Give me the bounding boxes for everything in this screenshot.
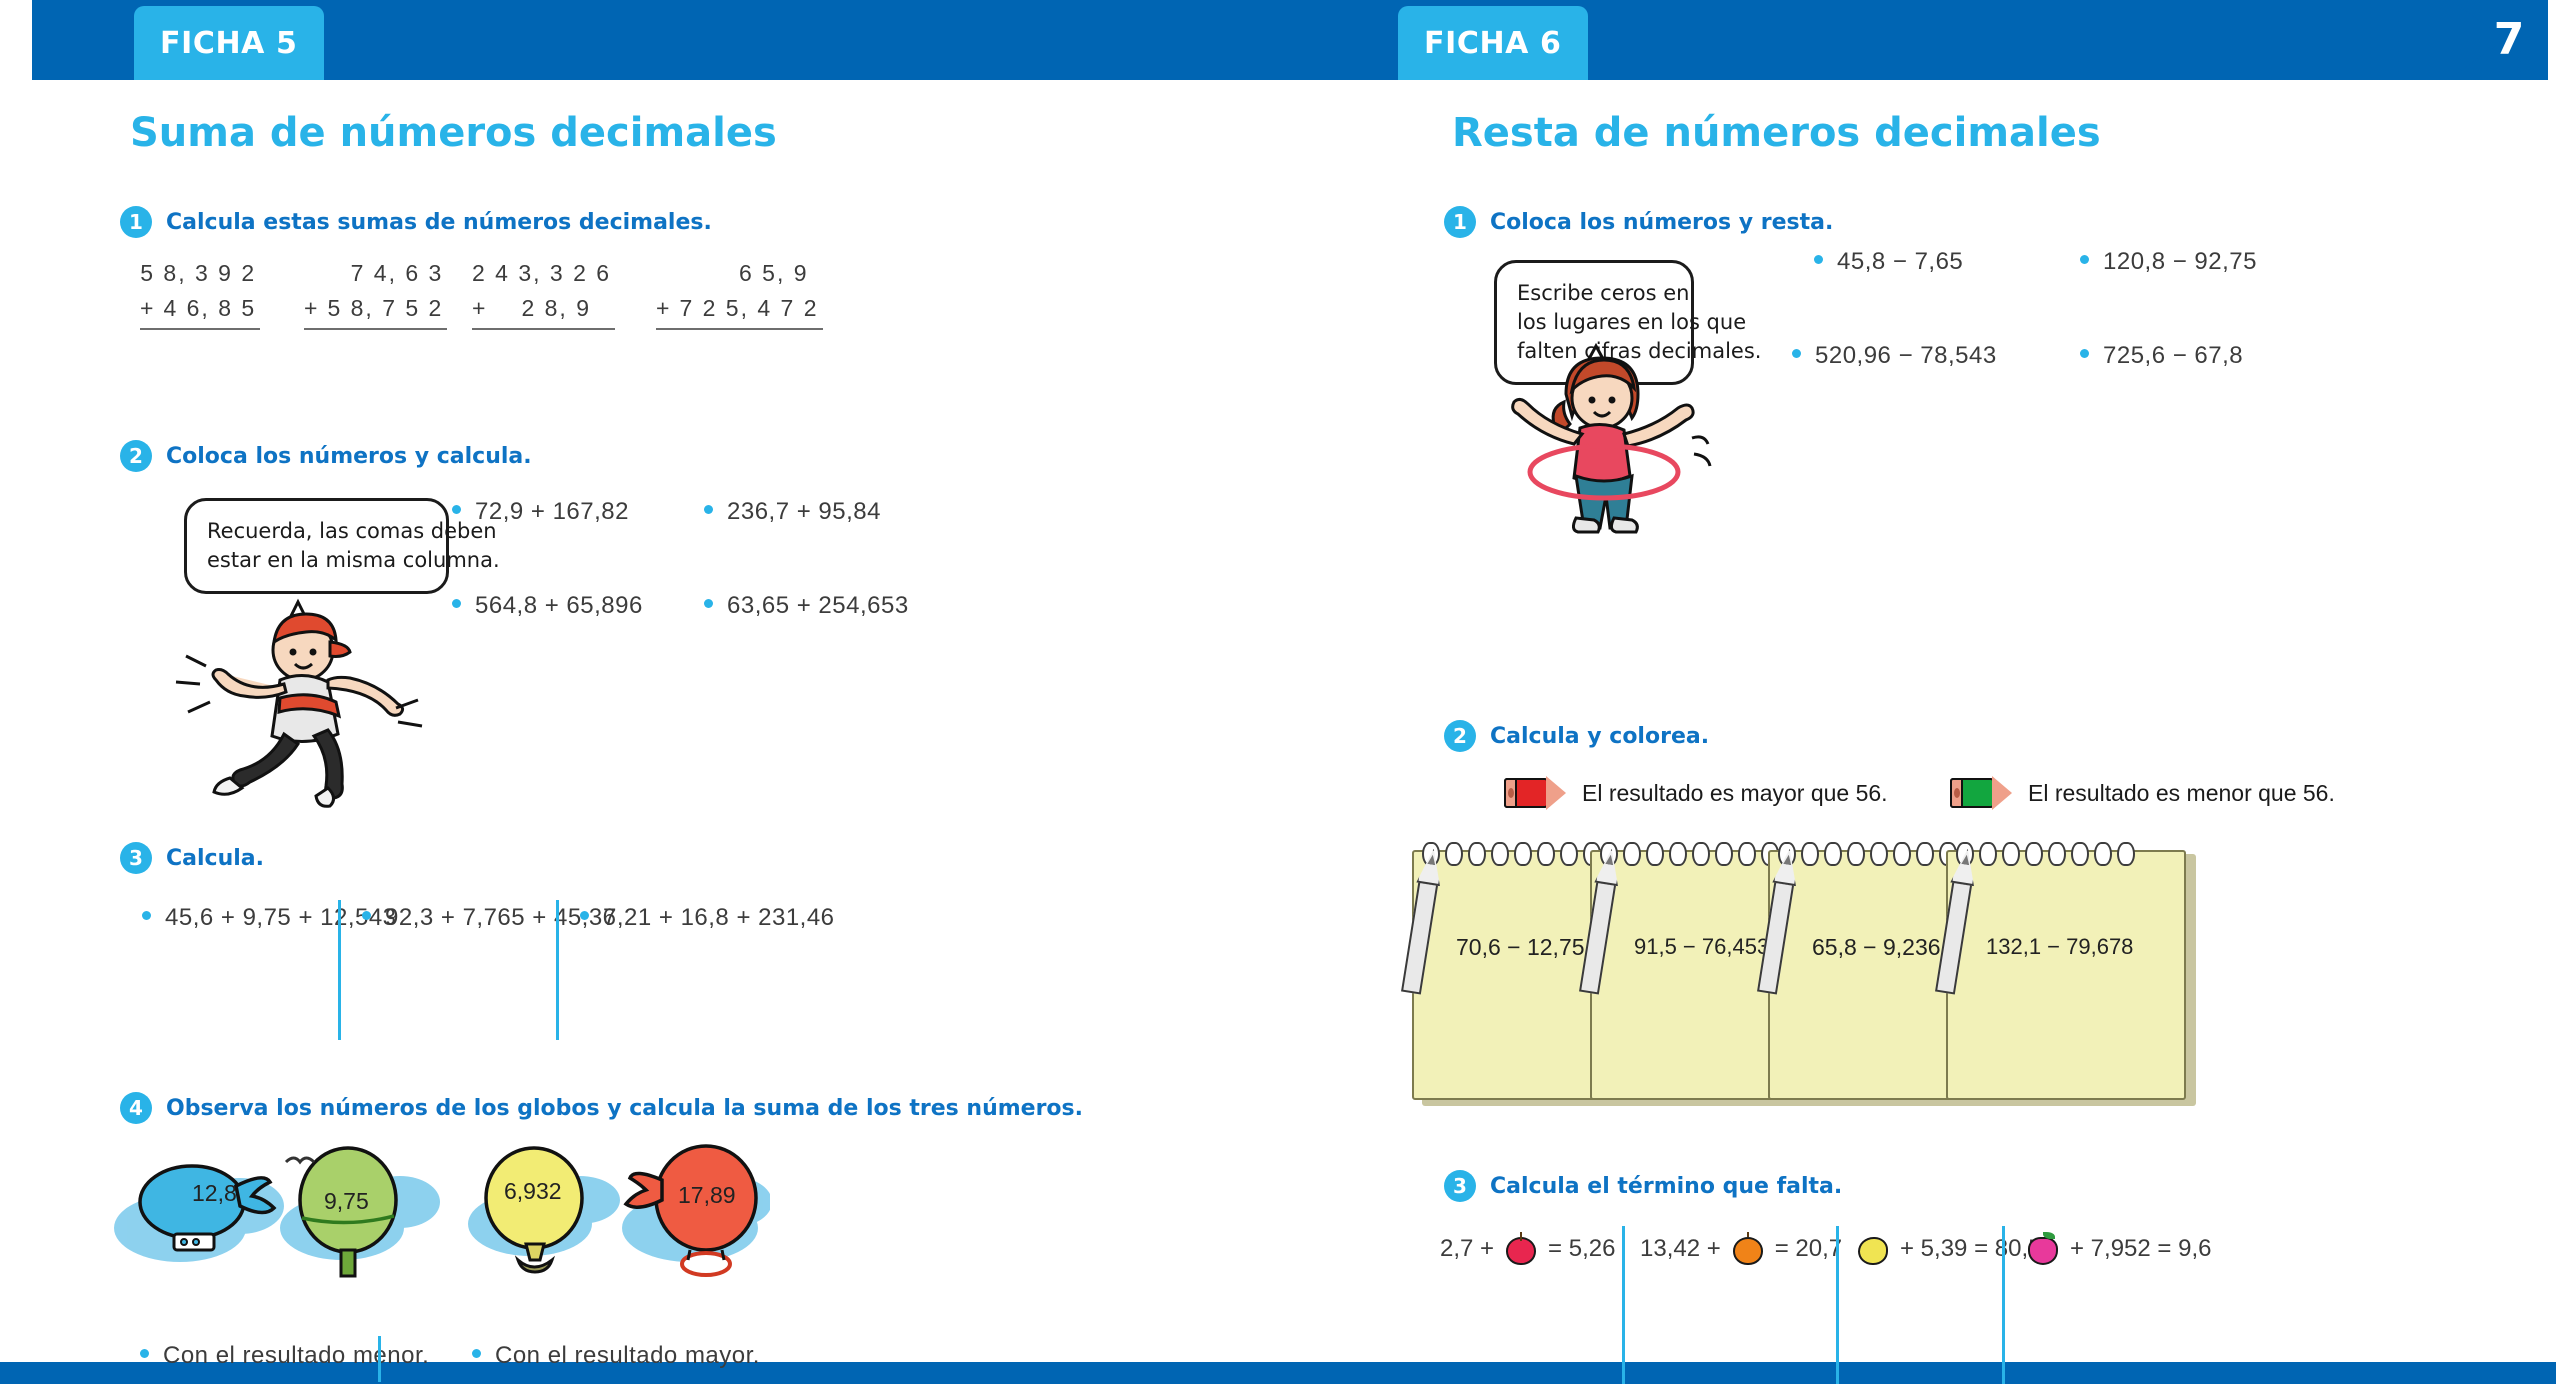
item-text: Con el resultado menor.: [163, 1342, 429, 1370]
ficha-tab-left-label: FICHA 5: [160, 26, 298, 61]
item-text: 564,8 + 65,896: [475, 592, 643, 620]
vertical-sum-1-bottom: +4 6, 8 5: [140, 287, 260, 330]
vertical-sum-4-bottom: +7 2 5, 4 7 2: [656, 287, 823, 330]
exercise-number-badge: 4: [120, 1092, 152, 1124]
vertical-sum-2-top: 7 4, 6 3: [304, 260, 447, 287]
equation-after: + 7,952 = 9,6: [2070, 1235, 2211, 1263]
exercise-3-right-item-4: + 7,952 = 9,6: [2026, 1232, 2211, 1266]
vertical-sum-1-top: 5 8, 3 9 2: [140, 260, 260, 287]
item-text: 236,7 + 95,84: [727, 498, 881, 526]
left-sheet: Suma de números decimales 1 Calcula esta…: [32, 80, 1302, 1384]
top-banner: [0, 0, 2556, 80]
item-text: 725,6 − 67,8: [2103, 342, 2243, 370]
crayon-green-icon: [1950, 774, 2012, 812]
legend-crayon-red-row: El resultado es mayor que 56.: [1504, 774, 1888, 812]
bullet-dot: [1792, 349, 1801, 358]
exercise-3-left-title: Calcula.: [166, 846, 264, 871]
crayon-red-icon: [1504, 774, 1566, 812]
exercise-3-right-item-3: + 5,39 = 80,5: [1856, 1232, 2041, 1266]
item-text: 520,96 − 78,543: [1815, 342, 1997, 370]
right-sheet: Resta de números decimales 1 Coloca los …: [1390, 80, 2556, 1384]
page-gutter: [1330, 80, 1340, 1384]
equation-after: = 20,7: [1775, 1235, 1842, 1263]
answer-divider-2: [556, 900, 559, 1040]
exercise-number-badge: 3: [1444, 1170, 1476, 1202]
orange-icon: [1731, 1232, 1765, 1266]
ficha-tab-left: FICHA 5: [134, 6, 324, 80]
bullet-dot: [2080, 255, 2089, 264]
vertical-sum-4: 6 5, 9 +7 2 5, 4 7 2: [656, 260, 823, 330]
bullet-dot: [362, 911, 371, 920]
vertical-sum-2: 7 4, 6 3 +5 8, 7 5 2: [304, 260, 447, 330]
exercise-3-left: 3 Calcula.: [120, 842, 264, 874]
bullet-dot: [580, 911, 589, 920]
exercise-3-right-item-1: 2,7 + = 5,26: [1440, 1232, 1615, 1266]
lemon-icon: [1856, 1232, 1890, 1266]
item-text: Con el resultado mayor.: [495, 1342, 760, 1370]
balloon-value-1: 12,8: [192, 1180, 237, 1207]
strawberry-icon: [2026, 1232, 2060, 1266]
exercise-2-right-title: Calcula y colorea.: [1490, 724, 1709, 749]
exercise-3-left-head: 3 Calcula.: [120, 842, 264, 874]
vertical-sum-4-top: 6 5, 9: [656, 260, 823, 287]
hula-hoop-girl-illustration: [1500, 342, 1730, 542]
exercise-2-left-head: 2 Coloca los números y calcula.: [120, 440, 532, 472]
answer-divider-3: [378, 1336, 381, 1382]
exercise-2-left-item-2: 236,7 + 95,84: [704, 498, 881, 526]
vertical-sum-3: 2 4 3, 3 2 6 +2 8, 9: [472, 260, 615, 330]
bullet-dot: [452, 505, 461, 514]
exercise-2-left-item-4: 63,65 + 254,653: [704, 592, 909, 620]
exercise-4-left-title: Observa los números de los globos y calc…: [166, 1096, 1083, 1121]
exercise-4-left-head: 4 Observa los números de los globos y ca…: [120, 1092, 1083, 1124]
hint-line-1: Escribe ceros en: [1517, 279, 1671, 308]
apple-icon: [1504, 1232, 1538, 1266]
notepad-sheet: [1946, 850, 2186, 1100]
balloons-illustration: [110, 1140, 770, 1300]
exercise-3-right: 3 Calcula el término que falta.: [1444, 1170, 1842, 1202]
exercise-3-right-item-2: 13,42 + = 20,7: [1640, 1232, 1842, 1266]
plus-sign: +: [656, 295, 671, 321]
exercise-4-left: 4 Observa los números de los globos y ca…: [120, 1092, 1083, 1124]
exercise-number-badge: 2: [120, 440, 152, 472]
exercise-2-left-title: Coloca los números y calcula.: [166, 444, 532, 469]
left-sheet-title: Suma de números decimales: [130, 110, 777, 156]
item-text: 120,8 − 92,75: [2103, 248, 2257, 276]
bullet-dot: [2080, 349, 2089, 358]
ficha-tab-right: FICHA 6: [1398, 6, 1588, 80]
exercise-2-left-item-1: 72,9 + 167,82: [452, 498, 629, 526]
hint-line-2: estar en la misma columna.: [207, 546, 426, 575]
item-text: 7,21 + 16,8 + 231,46: [603, 904, 835, 932]
answer-divider-r1: [1622, 1226, 1625, 1384]
bullet-dot: [704, 599, 713, 608]
left-margin-rail: [0, 0, 32, 1384]
exercise-number-badge: 2: [1444, 720, 1476, 752]
legend-crayon-green-row: El resultado es menor que 56.: [1950, 774, 2335, 812]
exercise-1-left-title: Calcula estas sumas de números decimales…: [166, 210, 712, 235]
fruit-equation-3: + 5,39 = 80,5: [1856, 1232, 2041, 1266]
bullet-dot: [140, 1349, 149, 1358]
equation-before: 2,7 +: [1440, 1235, 1494, 1263]
page-number: 7: [2468, 14, 2525, 65]
answer-divider-1: [338, 900, 341, 1040]
bullet-dot: [1814, 255, 1823, 264]
exercise-1-right-title: Coloca los números y resta.: [1490, 210, 1833, 235]
vertical-sum-3-addend: 2 8, 9: [521, 295, 591, 321]
fruit-equation-1: 2,7 + = 5,26: [1440, 1232, 1615, 1266]
vertical-sum-1: 5 8, 3 9 2 +4 6, 8 5: [140, 260, 260, 330]
plus-sign: +: [140, 295, 155, 321]
exercise-number-badge: 3: [120, 842, 152, 874]
exercise-3-left-item-1: 45,6 + 9,75 + 12,543: [142, 904, 397, 932]
hint-bubble-left: Recuerda, las comas deben estar en la mi…: [184, 498, 449, 594]
item-text: 72,9 + 167,82: [475, 498, 629, 526]
vertical-sum-1-addend: 4 6, 8 5: [163, 295, 256, 321]
vertical-sum-2-bottom: +5 8, 7 5 2: [304, 287, 447, 330]
exercise-number-badge: 1: [1444, 206, 1476, 238]
exercise-2-right: 2 Calcula y colorea.: [1444, 720, 1709, 752]
vertical-sum-2-addend: 5 8, 7 5 2: [327, 295, 443, 321]
hint-line-1: Recuerda, las comas deben: [207, 517, 426, 546]
notepad-rings: [1956, 842, 2180, 868]
equation-before: 13,42 +: [1640, 1235, 1721, 1263]
answer-divider-r2: [1836, 1226, 1839, 1384]
bullet-dot: [142, 911, 151, 920]
exercise-1-right-item-1: 45,8 − 7,65: [1814, 248, 1963, 276]
exercise-1-right-item-4: 725,6 − 67,8: [2080, 342, 2243, 370]
equation-after: + 5,39 = 80,5: [1900, 1235, 2041, 1263]
bullet-dot: [452, 599, 461, 608]
balloon-value-2: 9,75: [324, 1188, 369, 1215]
balloon-value-4: 17,89: [678, 1182, 736, 1209]
bullet-dot: [704, 505, 713, 514]
exercise-4-left-item-1: Con el resultado menor.: [140, 1342, 429, 1370]
exercise-1-right: 1 Coloca los números y resta.: [1444, 206, 1833, 238]
right-sheet-title: Resta de números decimales: [1452, 110, 2101, 156]
notepad-4-text: 132,1 − 79,678: [1986, 934, 2186, 960]
notepad-4[interactable]: 132,1 − 79,678: [1946, 842, 2196, 1104]
page-number-badge: 7: [2436, 0, 2556, 78]
plus-sign: +: [304, 295, 319, 321]
exercise-3-right-title: Calcula el término que falta.: [1490, 1174, 1842, 1199]
fruit-equation-4: + 7,952 = 9,6: [2026, 1232, 2211, 1266]
vertical-sum-3-top: 2 4 3, 3 2 6: [472, 260, 615, 287]
hint-line-2: los lugares en los que: [1517, 308, 1671, 337]
legend-green-text: El resultado es menor que 56.: [2028, 780, 2335, 807]
exercise-1-left-head: 1 Calcula estas sumas de números decimal…: [120, 206, 712, 238]
ficha-tab-right-label: FICHA 6: [1424, 26, 1562, 61]
item-text: 63,65 + 254,653: [727, 592, 909, 620]
item-text: 45,8 − 7,65: [1837, 248, 1963, 276]
bullet-dot: [472, 1349, 481, 1358]
exercise-1-right-head: 1 Coloca los números y resta.: [1444, 206, 1833, 238]
exercise-3-left-item-3: 7,21 + 16,8 + 231,46: [580, 904, 835, 932]
fruit-equation-2: 13,42 + = 20,7: [1640, 1232, 1842, 1266]
plus-sign: +: [472, 295, 487, 321]
answer-divider-r3: [2002, 1226, 2005, 1384]
equation-after: = 5,26: [1548, 1235, 1615, 1263]
exercise-2-left-item-3: 564,8 + 65,896: [452, 592, 643, 620]
legend-red-text: El resultado es mayor que 56.: [1582, 780, 1888, 807]
exercise-1-left: 1 Calcula estas sumas de números decimal…: [120, 206, 712, 238]
exercise-1-right-item-2: 120,8 − 92,75: [2080, 248, 2257, 276]
exercise-2-right-head: 2 Calcula y colorea.: [1444, 720, 1709, 752]
worksheet-page: FICHA 5 FICHA 6 7 Suma de números decima…: [0, 0, 2556, 1384]
exercise-1-right-item-3: 520,96 − 78,543: [1792, 342, 1997, 370]
vertical-sum-3-bottom: +2 8, 9: [472, 287, 615, 330]
exercise-2-left: 2 Coloca los números y calcula.: [120, 440, 532, 472]
running-boy-illustration: [160, 592, 430, 812]
exercise-number-badge: 1: [120, 206, 152, 238]
exercise-3-right-head: 3 Calcula el término que falta.: [1444, 1170, 1842, 1202]
exercise-4-left-item-2: Con el resultado mayor.: [472, 1342, 760, 1370]
exercise-3-left-item-2: 92,3 + 7,765 + 45,36: [362, 904, 617, 932]
balloon-value-3: 6,932: [504, 1178, 562, 1205]
vertical-sum-4-addend: 7 2 5, 4 7 2: [679, 295, 818, 321]
